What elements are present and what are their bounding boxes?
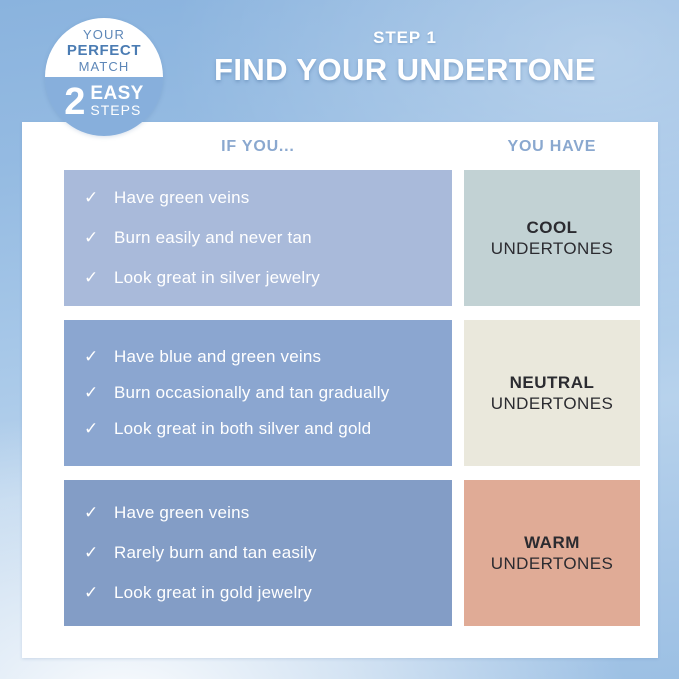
- table-row: ✓ Have green veins ✓ Burn easily and nev…: [64, 170, 640, 306]
- badge-line-steps: STEPS: [90, 103, 141, 118]
- check-icon: ✓: [84, 418, 114, 440]
- undertone-sublabel: UNDERTONES: [491, 238, 613, 260]
- badge-top-half: YOUR PERFECT MATCH: [45, 18, 163, 77]
- infographic-poster: STEP 1 FIND YOUR UNDERTONE YOUR PERFECT …: [0, 0, 679, 679]
- list-item: ✓ Have green veins: [84, 187, 436, 209]
- badge-easy-steps: EASY STEPS: [90, 84, 143, 118]
- list-item: ✓ Burn easily and never tan: [84, 227, 436, 249]
- badge-line-your: YOUR: [83, 27, 125, 42]
- perfect-match-badge: YOUR PERFECT MATCH 2 EASY STEPS: [45, 18, 163, 136]
- undertone-name: WARM: [524, 532, 580, 553]
- criteria-panel-cool: ✓ Have green veins ✓ Burn easily and nev…: [64, 170, 452, 306]
- list-item: ✓ Look great in silver jewelry: [84, 267, 436, 289]
- list-item: ✓ Burn occasionally and tan gradually: [84, 382, 436, 404]
- badge-line-match: MATCH: [79, 59, 130, 74]
- undertone-sublabel: UNDERTONES: [491, 393, 613, 415]
- check-icon: ✓: [84, 582, 114, 604]
- step-label: STEP 1: [170, 28, 640, 48]
- check-icon: ✓: [84, 502, 114, 524]
- column-header-if-you: IF YOU...: [64, 138, 452, 156]
- check-icon: ✓: [84, 542, 114, 564]
- content-card: IF YOU... YOU HAVE ✓ Have green veins ✓ …: [22, 122, 658, 658]
- table-row: ✓ Have green veins ✓ Rarely burn and tan…: [64, 480, 640, 626]
- badge-step-count: 2: [64, 84, 85, 120]
- undertone-swatch-warm: WARM UNDERTONES: [464, 480, 640, 626]
- criteria-text: Burn occasionally and tan gradually: [114, 382, 389, 404]
- poster-header: STEP 1 FIND YOUR UNDERTONE: [170, 28, 640, 88]
- badge-line-easy: EASY: [90, 84, 143, 103]
- check-icon: ✓: [84, 227, 114, 249]
- check-icon: ✓: [84, 382, 114, 404]
- column-headers: IF YOU... YOU HAVE: [64, 138, 640, 156]
- badge-line-perfect: PERFECT: [67, 42, 141, 59]
- list-item: ✓ Have green veins: [84, 502, 436, 524]
- undertone-swatch-neutral: NEUTRAL UNDERTONES: [464, 320, 640, 466]
- page-title: FIND YOUR UNDERTONE: [170, 52, 640, 88]
- criteria-text: Look great in silver jewelry: [114, 267, 320, 289]
- badge-divider: [51, 74, 157, 77]
- criteria-text: Rarely burn and tan easily: [114, 542, 317, 564]
- list-item: ✓ Look great in both silver and gold: [84, 418, 436, 440]
- check-icon: ✓: [84, 267, 114, 289]
- undertone-sublabel: UNDERTONES: [491, 553, 613, 575]
- undertone-name: NEUTRAL: [510, 372, 595, 393]
- table-row: ✓ Have blue and green veins ✓ Burn occas…: [64, 320, 640, 466]
- list-item: ✓ Look great in gold jewelry: [84, 582, 436, 604]
- column-header-you-have: YOU HAVE: [464, 138, 640, 156]
- criteria-text: Look great in gold jewelry: [114, 582, 312, 604]
- check-icon: ✓: [84, 346, 114, 368]
- criteria-text: Have blue and green veins: [114, 346, 321, 368]
- criteria-panel-neutral: ✓ Have blue and green veins ✓ Burn occas…: [64, 320, 452, 466]
- list-item: ✓ Rarely burn and tan easily: [84, 542, 436, 564]
- criteria-text: Have green veins: [114, 502, 250, 524]
- undertone-name: COOL: [526, 217, 577, 238]
- list-item: ✓ Have blue and green veins: [84, 346, 436, 368]
- undertone-swatch-cool: COOL UNDERTONES: [464, 170, 640, 306]
- criteria-text: Look great in both silver and gold: [114, 418, 371, 440]
- check-icon: ✓: [84, 187, 114, 209]
- undertone-table: ✓ Have green veins ✓ Burn easily and nev…: [64, 170, 640, 626]
- criteria-text: Have green veins: [114, 187, 250, 209]
- criteria-panel-warm: ✓ Have green veins ✓ Rarely burn and tan…: [64, 480, 452, 626]
- criteria-text: Burn easily and never tan: [114, 227, 312, 249]
- badge-bottom-half: 2 EASY STEPS: [45, 77, 163, 136]
